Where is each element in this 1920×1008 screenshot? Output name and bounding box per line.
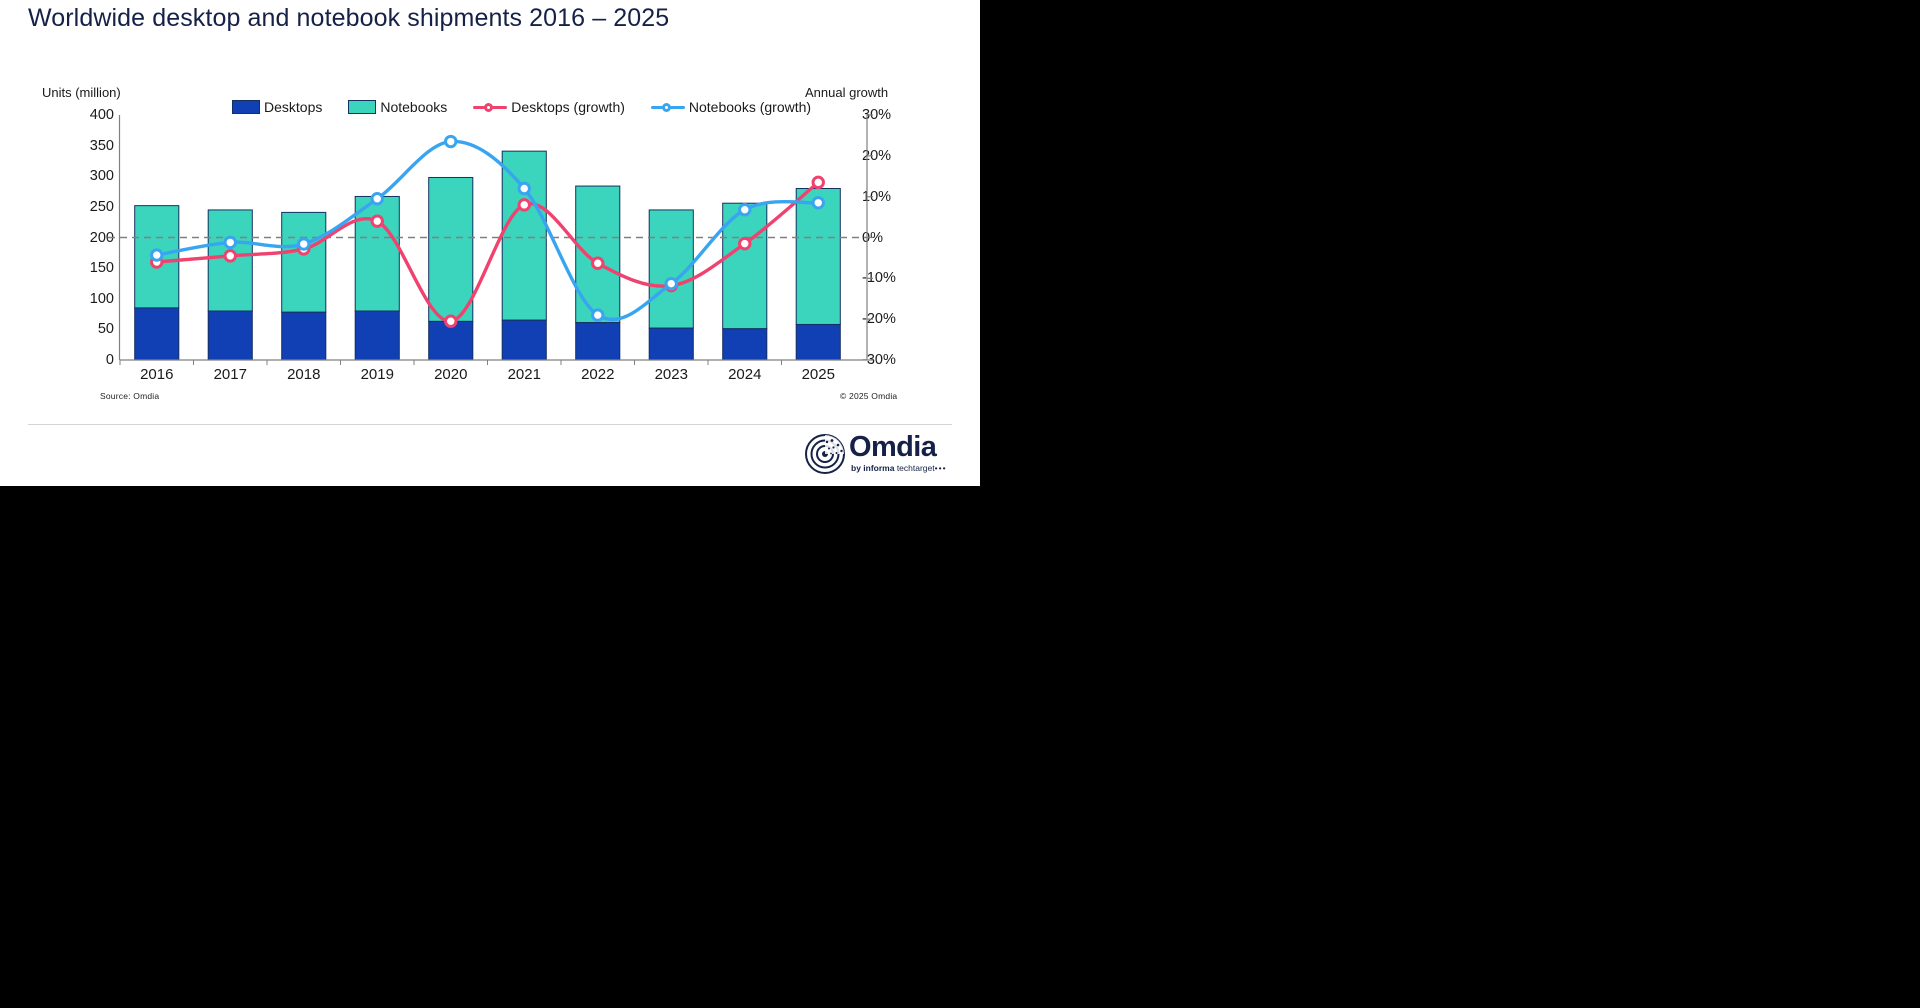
right-axis-tick-label: 20%	[862, 148, 891, 164]
page-title: Worldwide desktop and notebook shipments…	[28, 4, 669, 33]
bar-notebooks[interactable]	[355, 196, 399, 311]
left-axis-title: Units (million)	[42, 85, 121, 100]
bar-desktops[interactable]	[208, 311, 252, 360]
slide-canvas: Worldwide desktop and notebook shipments…	[0, 0, 980, 486]
left-axis-tick-label: 150	[90, 260, 114, 276]
marker-notebooks-growth[interactable]	[666, 278, 676, 288]
bar-desktops[interactable]	[502, 320, 546, 360]
left-axis-tick-label: 100	[90, 291, 114, 307]
x-axis-tick-label: 2019	[361, 366, 394, 383]
legend-item-desktops-growth[interactable]: Desktops (growth)	[473, 99, 625, 115]
legend-label-notebooks-growth: Notebooks (growth)	[689, 99, 811, 115]
x-axis-tick-label: 2016	[140, 366, 173, 383]
left-axis-tick-label: 50	[98, 321, 114, 337]
bar-desktops[interactable]	[649, 328, 693, 360]
marker-notebooks-growth[interactable]	[299, 239, 309, 249]
left-axis-tick-label: 350	[90, 138, 114, 154]
bar-notebooks[interactable]	[502, 151, 546, 320]
x-axis-tick-label: 2017	[214, 366, 247, 383]
x-axis-ticks: 2016201720182019202020212022202320242025	[120, 366, 855, 388]
marker-notebooks-growth[interactable]	[519, 183, 529, 193]
legend-item-notebooks-growth[interactable]: Notebooks (growth)	[651, 99, 811, 115]
bar-notebooks[interactable]	[429, 177, 473, 321]
left-axis-tick-label: 300	[90, 168, 114, 184]
right-axis-tick-label: 30%	[862, 107, 891, 123]
omdia-byline-brand: by informa	[851, 463, 894, 473]
bar-desktops[interactable]	[282, 312, 326, 360]
x-axis-tick-label: 2024	[728, 366, 761, 383]
x-axis-tick-label: 2025	[802, 366, 835, 383]
marker-notebooks-growth[interactable]	[593, 310, 603, 320]
x-axis-tick-label: 2023	[655, 366, 688, 383]
copyright-note: © 2025 Omdia	[840, 391, 897, 401]
line-desktops-growth[interactable]	[157, 182, 819, 321]
notebooks-growth-line-icon	[651, 101, 685, 113]
legend-label-notebooks: Notebooks	[380, 99, 447, 115]
marker-notebooks-growth[interactable]	[152, 250, 162, 260]
omdia-byline-rest: techtarget	[894, 463, 934, 473]
x-axis-tick-label: 2020	[434, 366, 467, 383]
legend-item-desktops[interactable]: Desktops	[232, 99, 322, 115]
marker-desktops-growth[interactable]	[740, 238, 750, 248]
omdia-byline-dots: •••	[935, 463, 947, 473]
marker-desktops-growth[interactable]	[519, 200, 529, 210]
omdia-spiral-icon	[805, 434, 845, 474]
bar-desktops[interactable]	[723, 329, 767, 360]
bar-desktops[interactable]	[576, 323, 620, 360]
desktops-swatch-icon	[232, 100, 260, 114]
marker-desktops-growth[interactable]	[225, 251, 235, 261]
marker-notebooks-growth[interactable]	[372, 194, 382, 204]
x-axis-tick-label: 2022	[581, 366, 614, 383]
left-axis-tick-label: 250	[90, 199, 114, 215]
bar-desktops[interactable]	[135, 308, 179, 360]
legend-label-desktops: Desktops	[264, 99, 322, 115]
x-axis-tick-label: 2021	[508, 366, 541, 383]
source-note: Source: Omdia	[100, 391, 159, 401]
omdia-byline: by informa techtarget•••	[851, 463, 947, 473]
bar-notebooks[interactable]	[282, 212, 326, 312]
bar-desktops[interactable]	[355, 311, 399, 360]
left-axis-tick-label: 400	[90, 107, 114, 123]
left-axis-tick-label: 0	[106, 352, 114, 368]
bar-desktops[interactable]	[796, 324, 840, 360]
right-axis-title: Annual growth	[805, 85, 888, 100]
marker-desktops-growth[interactable]	[446, 316, 456, 326]
marker-desktops-growth[interactable]	[813, 177, 823, 187]
plot-area	[120, 115, 855, 360]
legend-item-notebooks[interactable]: Notebooks	[348, 99, 447, 115]
desktops-growth-line-icon	[473, 101, 507, 113]
left-axis-ticks: 050100150200250300350400	[62, 115, 114, 360]
bar-notebooks[interactable]	[576, 186, 620, 323]
right-axis-tick-label: 10%	[862, 189, 891, 205]
marker-notebooks-growth[interactable]	[740, 205, 750, 215]
omdia-logo: Omdia by informa techtarget•••	[805, 432, 955, 476]
footer-divider	[28, 424, 952, 425]
marker-desktops-growth[interactable]	[372, 216, 382, 226]
marker-notebooks-growth[interactable]	[813, 198, 823, 208]
chart-canvas	[120, 115, 855, 360]
notebooks-swatch-icon	[348, 100, 376, 114]
marker-desktops-growth[interactable]	[593, 258, 603, 268]
omdia-wordmark: Omdia	[849, 432, 936, 463]
line-notebooks-growth[interactable]	[157, 141, 819, 319]
chart-legend: Desktops Notebooks Desktops (growth) Not…	[232, 99, 811, 115]
x-axis-tick-label: 2018	[287, 366, 320, 383]
marker-notebooks-growth[interactable]	[225, 237, 235, 247]
legend-label-desktops-growth: Desktops (growth)	[511, 99, 625, 115]
marker-notebooks-growth[interactable]	[446, 136, 456, 146]
